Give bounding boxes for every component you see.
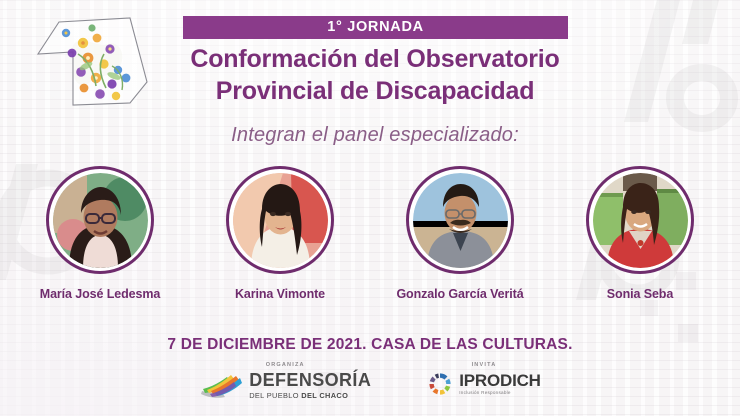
watermark-shape-top-right: [604, 0, 740, 142]
panel-member: Gonzalo García Veritá: [392, 166, 528, 301]
organiza-caption: ORGANIZA: [266, 362, 305, 368]
panel-member-name: Karina Vimonte: [235, 287, 325, 301]
footer-logos: ORGANIZA DEFENSORÍA DEL PUEBLO DEL CHACO…: [0, 362, 740, 416]
rainbow-hand-logo-icon: [199, 371, 243, 399]
defensoria-subname: DEL PUEBLO DEL CHACO: [249, 392, 371, 399]
panel-member-name: María José Ledesma: [40, 287, 160, 301]
page-title: Conformación del Observatorio Provincial…: [150, 43, 600, 107]
panel-member: María José Ledesma: [32, 166, 168, 301]
avatar: [233, 173, 328, 268]
panel-subtitle: Integran el panel especializado:: [150, 124, 600, 147]
panel-members-list: María José Ledesma: [0, 166, 740, 306]
panel-member-name: Sonia Seba: [607, 287, 673, 301]
avatar-ring: [46, 166, 154, 274]
avatar-ring: [226, 166, 334, 274]
headline-line-1: Conformación del Observatorio: [150, 43, 600, 75]
defensoria-name: DEFENSORÍA: [249, 371, 371, 389]
defensoria-subname-light: DEL PUEBLO: [249, 391, 301, 400]
portrait-karina-vimonte: [233, 173, 328, 268]
avatar: [413, 173, 508, 268]
portrait-maria-jose-ledesma: [53, 173, 148, 268]
headline-line-2: Provincial de Discapacidad: [150, 75, 600, 107]
avatar: [53, 173, 148, 268]
invita-caption: INVITA: [472, 362, 497, 368]
defensoria-subname-bold: DEL CHACO: [301, 391, 348, 400]
avatar: [593, 173, 688, 268]
iprodich-name: IPRODICH: [459, 372, 541, 389]
chaco-province-floral-map-icon: [26, 8, 166, 126]
jornada-banner: 1° JORNADA: [183, 16, 568, 39]
poster-canvas: 1° JORNADA Conformación del Observatorio…: [0, 0, 740, 416]
event-dateline: 7 DE DICIEMBRE DE 2021. CASA DE LAS CULT…: [0, 336, 740, 354]
invita-logo-block: INVITA: [427, 362, 541, 397]
panel-member: Sonia Seba: [572, 166, 708, 301]
avatar-ring: [406, 166, 514, 274]
avatar-ring: [586, 166, 694, 274]
banner-label: 1° JORNADA: [327, 20, 424, 35]
organiza-logo-block: ORGANIZA DEFENSORÍA DEL PUEBLO DEL CHACO: [199, 362, 371, 399]
iprodich-tagline: Inclusión Responsable: [459, 391, 541, 396]
panel-member: Karina Vimonte: [212, 166, 348, 301]
portrait-sonia-seba: [593, 173, 688, 268]
segmented-ring-logo-icon: [427, 371, 453, 397]
panel-member-name: Gonzalo García Veritá: [396, 287, 523, 301]
portrait-gonzalo-garcia-verita: [413, 173, 508, 268]
